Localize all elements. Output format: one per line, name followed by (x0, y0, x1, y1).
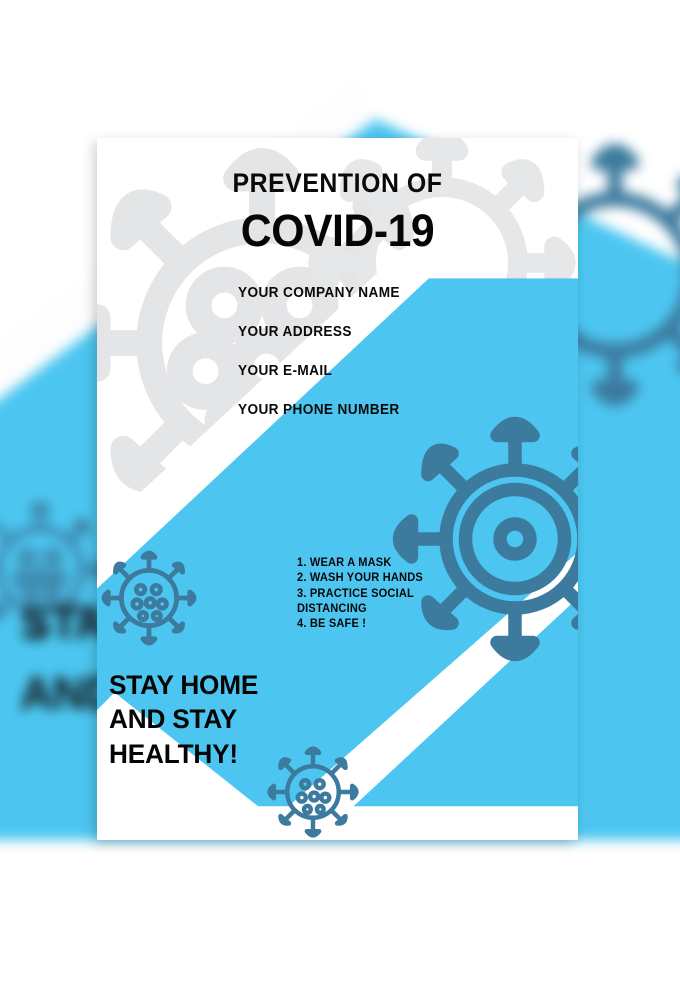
contact-email: YOUR E-MAIL (238, 363, 539, 379)
slogan-line-2: AND STAY (109, 702, 361, 736)
tip-item-3-continued: DISTANCING (297, 602, 499, 617)
prevention-tips-list: 1. WEAR A MASK 2. WASH YOUR HANDS 3. PRA… (297, 556, 507, 632)
headline-block: PREVENTION OF COVID-19 (97, 168, 578, 257)
headline-covid: COVID-19 (109, 205, 566, 257)
poster-card: PREVENTION OF COVID-19 YOUR COMPANY NAME… (97, 138, 578, 840)
slogan-block: STAY HOME AND STAY HEALTHY! (109, 668, 369, 771)
tip-item-4: 4. BE SAFE ! (297, 617, 499, 632)
headline-prevention: PREVENTION OF (116, 168, 559, 199)
tip-item-1: 1. WEAR A MASK (297, 556, 499, 571)
contact-phone: YOUR PHONE NUMBER (238, 402, 539, 418)
contact-block: YOUR COMPANY NAME YOUR ADDRESS YOUR E-MA… (238, 285, 558, 441)
virus-icon-small-left (97, 538, 209, 658)
slogan-line-3: HEALTHY! (109, 737, 361, 771)
contact-company-name: YOUR COMPANY NAME (238, 285, 539, 301)
tip-item-3: 3. PRACTICE SOCIAL (297, 587, 499, 602)
contact-address: YOUR ADDRESS (238, 324, 539, 340)
slogan-line-1: STAY HOME (109, 668, 361, 702)
poster-canvas: STAY AND (0, 0, 680, 1001)
tip-item-2: 2. WASH YOUR HANDS (297, 571, 499, 586)
